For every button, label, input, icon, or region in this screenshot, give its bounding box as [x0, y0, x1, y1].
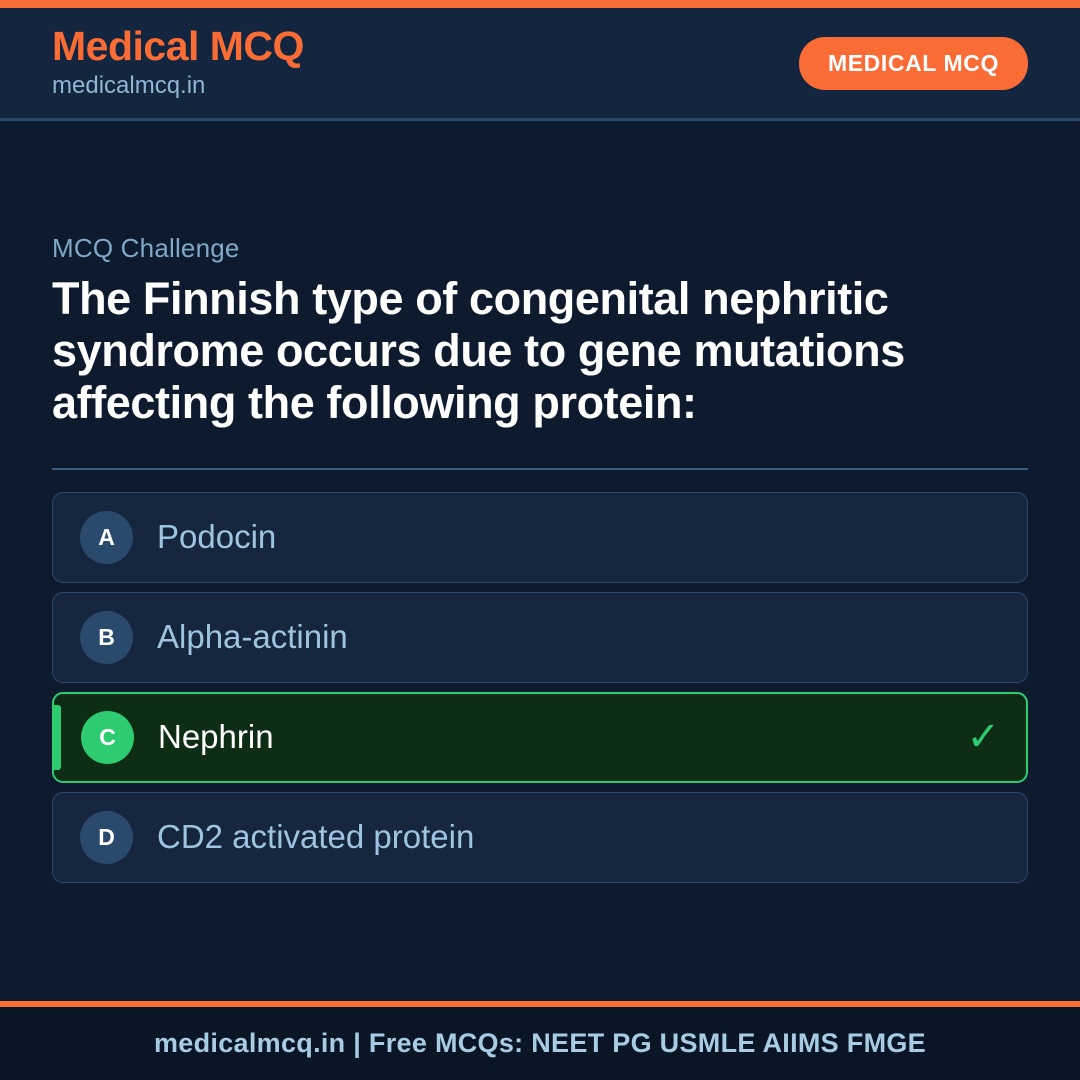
page-header: Medical MCQ medicalmcq.in MEDICAL MCQ — [0, 8, 1080, 121]
option-row-d[interactable]: D CD2 activated protein — [52, 792, 1028, 883]
option-letter-badge: B — [80, 611, 133, 664]
option-letter-badge: A — [80, 511, 133, 564]
question-text: The Finnish type of congenital nephritic… — [52, 273, 1028, 430]
page-footer: medicalmcq.in | Free MCQs: NEET PG USMLE… — [0, 1001, 1080, 1080]
eyebrow-label: MCQ Challenge — [52, 233, 1028, 264]
footer-text: medicalmcq.in | Free MCQs: NEET PG USMLE… — [154, 1028, 926, 1059]
top-accent-bar — [0, 0, 1080, 8]
option-row-a[interactable]: A Podocin — [52, 492, 1028, 583]
question-area: MCQ Challenge The Finnish type of congen… — [0, 121, 1080, 1001]
option-label: Podocin — [157, 519, 1001, 555]
options-list: A Podocin B Alpha-actinin C Nephrin ✓ D … — [52, 492, 1028, 883]
option-label: Alpha-actinin — [157, 619, 1001, 655]
section-divider — [52, 468, 1028, 470]
brand-title: Medical MCQ — [52, 25, 304, 68]
option-letter-badge: C — [81, 711, 134, 764]
option-letter-badge: D — [80, 811, 133, 864]
option-label: Nephrin — [158, 719, 966, 755]
mcq-card: Medical MCQ medicalmcq.in MEDICAL MCQ MC… — [0, 0, 1080, 1080]
option-label: CD2 activated protein — [157, 819, 1001, 855]
header-badge: MEDICAL MCQ — [799, 37, 1028, 90]
option-row-c[interactable]: C Nephrin ✓ — [52, 692, 1028, 783]
correct-accent-bar — [54, 705, 61, 770]
check-icon: ✓ — [966, 717, 1000, 757]
brand-subtitle: medicalmcq.in — [52, 71, 304, 101]
brand: Medical MCQ medicalmcq.in — [52, 25, 304, 101]
option-row-b[interactable]: B Alpha-actinin — [52, 592, 1028, 683]
